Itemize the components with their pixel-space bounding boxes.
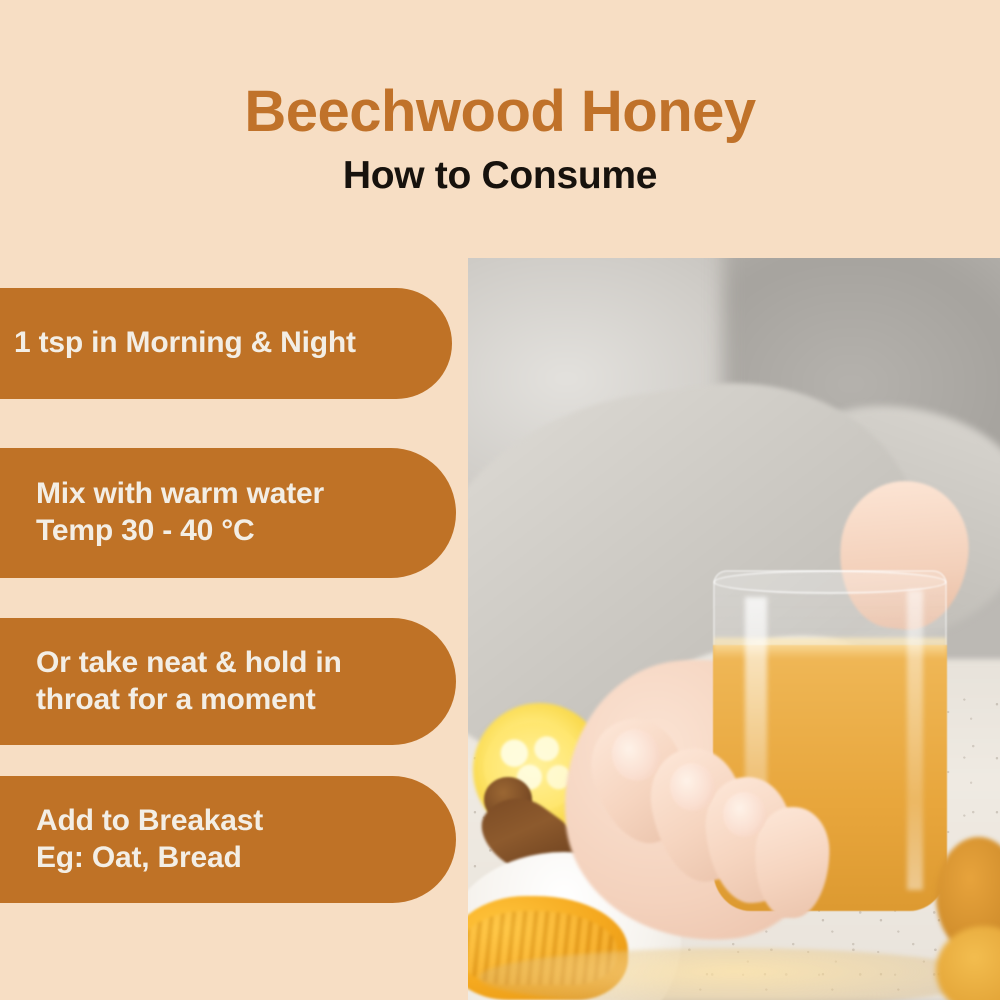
glass-rim <box>713 570 947 594</box>
instruction-pill-3-line-2: throat for a moment <box>36 682 456 719</box>
instruction-pill-3-line-1: Or take neat & hold in <box>36 645 456 682</box>
glass-highlight-right <box>907 590 923 890</box>
instruction-pill-4-line-2: Eg: Oat, Bread <box>36 840 456 877</box>
instruction-pill-1: 1 tsp in Morning & Night <box>0 288 452 399</box>
honey-infographic-poster: Beechwood Honey How to Consume 1 tsp in … <box>0 0 1000 1000</box>
instruction-pill-2-line-2: Temp 30 - 40 °C <box>36 513 456 550</box>
poster-header: Beechwood Honey How to Consume <box>0 0 1000 250</box>
honey-drink-photo <box>468 258 1000 1000</box>
glass-base-reflection <box>479 948 990 1000</box>
photo-scene <box>468 258 1000 1000</box>
instruction-pill-2-line-1: Mix with warm water <box>36 476 456 513</box>
instruction-pill-2: Mix with warm water Temp 30 - 40 °C <box>0 448 456 578</box>
instruction-pill-3: Or take neat & hold in throat for a mome… <box>0 618 456 745</box>
instruction-pill-4-line-1: Add to Breakast <box>36 803 456 840</box>
page-subtitle: How to Consume <box>0 155 1000 198</box>
instruction-pill-4: Add to Breakast Eg: Oat, Bread <box>0 776 456 903</box>
instruction-pill-1-line-1: 1 tsp in Morning & Night <box>14 325 452 362</box>
page-title: Beechwood Honey <box>0 82 1000 143</box>
